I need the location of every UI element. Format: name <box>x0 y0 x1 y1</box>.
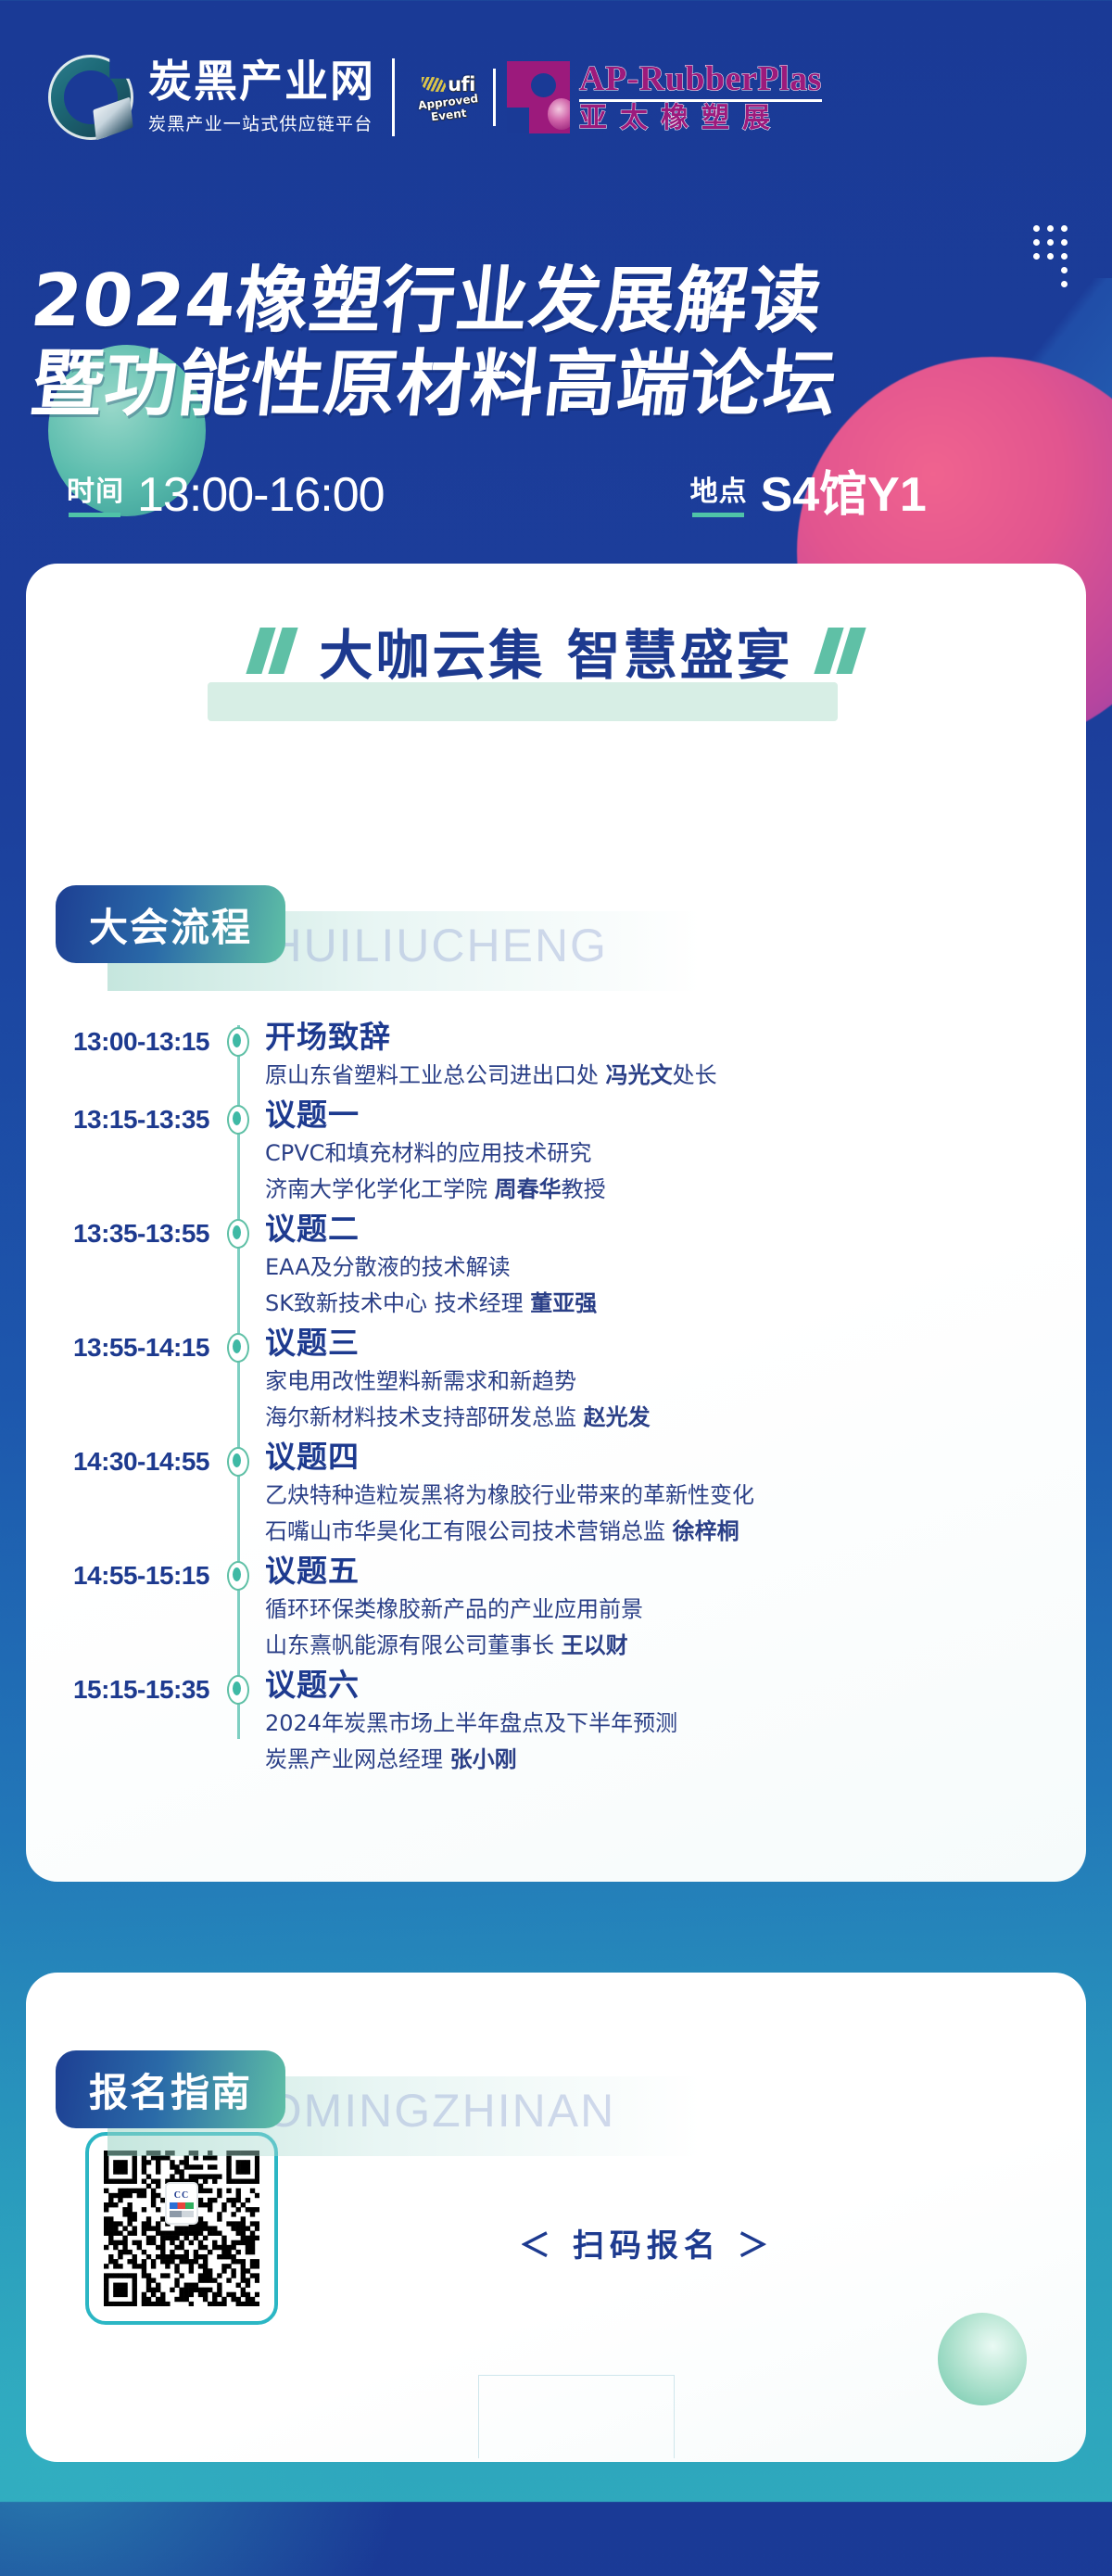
schedule-speaker-org: 原山东省塑料工业总公司进出口处 <box>265 1062 606 1088</box>
partner-name-cn: 亚太橡塑展 <box>579 104 822 133</box>
schedule-title: 议题六 <box>265 1668 677 1704</box>
schedule-time: 13:00-13:15 <box>26 1020 222 1098</box>
schedule-row: 14:30-14:55议题四乙炔特种造粒炭黑将为橡胶行业带来的革新性变化石嘴山市… <box>26 1440 1086 1554</box>
qr-code-icon[interactable]: CC <box>104 2151 259 2306</box>
schedule-topic: CPVC和填充材料的应用技术研究 <box>265 1136 606 1170</box>
schedule-speaker-name: 王以财 <box>562 1632 628 1658</box>
signup-qr-frame[interactable]: CC <box>85 2132 278 2325</box>
schedule-speaker: SK致新技术中心 技术经理 董亚强 <box>265 1287 597 1320</box>
timeline-dot-icon <box>222 1668 252 1782</box>
brand-tagline: 炭黑产业一站式供应链平台 <box>148 110 375 135</box>
schedule-title: 议题三 <box>265 1326 651 1362</box>
page-title: 2024橡塑行业发展解读 暨功能性原材料高端论坛 <box>32 264 1088 422</box>
logo-bar: 炭黑产业网 炭黑产业一站式供应链平台 ufi Approved Event AP… <box>0 46 1112 148</box>
schedule-body: 议题二EAA及分散液的技术解读SK致新技术中心 技术经理 董亚强 <box>252 1212 597 1326</box>
schedule-speaker-name: 董亚强 <box>530 1290 597 1316</box>
event-time-value: 13:00-16:00 <box>137 471 385 519</box>
schedule-row: 13:15-13:35议题一CPVC和填充材料的应用技术研究济南大学化学化工学院… <box>26 1098 1086 1212</box>
schedule-speaker-role: 处长 <box>673 1062 717 1088</box>
schedule-row: 14:55-15:15议题五循环环保类橡胶新产品的产业应用前景山东熹帆能源有限公… <box>26 1554 1086 1668</box>
schedule-time: 14:55-15:15 <box>26 1554 222 1668</box>
ufi-swoosh-icon <box>422 77 446 92</box>
program-section-label: 大会流程 <box>89 896 252 953</box>
timeline-dot-icon <box>222 1098 252 1212</box>
schedule-topic: 2024年炭黑市场上半年盘点及下半年预测 <box>265 1707 677 1740</box>
partner-divider <box>493 69 496 126</box>
schedule-time: 13:15-13:35 <box>26 1098 222 1212</box>
schedule-speaker-org: 济南大学化学化工学院 <box>265 1176 495 1202</box>
ufi-approved-event-badge-icon: ufi Approved Event <box>415 61 482 133</box>
schedule-row: 15:15-15:35议题六2024年炭黑市场上半年盘点及下半年预测炭黑产业网总… <box>26 1668 1086 1782</box>
schedule-time: 15:15-15:35 <box>26 1668 222 1782</box>
schedule-speaker: 炭黑产业网总经理 张小刚 <box>265 1743 677 1776</box>
schedule-body: 议题四乙炔特种造粒炭黑将为橡胶行业带来的革新性变化石嘴山市华昊化工有限公司技术营… <box>252 1440 754 1554</box>
schedule-time: 13:35-13:55 <box>26 1212 222 1326</box>
schedule-topic: 家电用改性塑料新需求和新趋势 <box>265 1364 651 1398</box>
title-line-2: 暨功能性原材料高端论坛 <box>28 348 1092 422</box>
schedule-speaker-org: 石嘴山市华昊化工有限公司技术营销总监 <box>265 1518 673 1544</box>
schedule-body: 议题六2024年炭黑市场上半年盘点及下半年预测炭黑产业网总经理 张小刚 <box>252 1668 677 1782</box>
schedule-speaker-org: 炭黑产业网总经理 <box>265 1746 450 1772</box>
partner-logo-text: AP-RubberPlas 亚太橡塑展 <box>579 61 822 133</box>
timeline-dot-icon <box>222 1554 252 1668</box>
schedule-speaker-name: 徐梓桐 <box>673 1518 739 1544</box>
schedule-speaker-name: 冯光文 <box>606 1062 673 1088</box>
brand-name: 炭黑产业网 <box>148 59 375 105</box>
schedule-row: 13:55-14:15议题三家电用改性塑料新需求和新趋势海尔新材料技术支持部研发… <box>26 1326 1086 1440</box>
schedule-speaker: 济南大学化学化工学院 周春华教授 <box>265 1173 606 1206</box>
event-place: 地点 S4馆Y1 <box>690 468 927 519</box>
timeline-dot-icon <box>222 1440 252 1554</box>
schedule-speaker: 山东熹帆能源有限公司董事长 王以财 <box>265 1629 643 1662</box>
qr-center-logo-icon: CC <box>165 2182 198 2225</box>
schedule-body: 议题三家电用改性塑料新需求和新趋势海尔新材料技术支持部研发总监 赵光发 <box>252 1326 651 1440</box>
schedule-speaker: 石嘴山市华昊化工有限公司技术营销总监 徐梓桐 <box>265 1515 754 1548</box>
scan-to-register-label: ＜ 扫码报名 ＞ <box>519 2220 775 2265</box>
schedule-row: 13:35-13:55议题二EAA及分散液的技术解读SK致新技术中心 技术经理 … <box>26 1212 1086 1326</box>
schedule-speaker-name: 张小刚 <box>450 1746 517 1772</box>
signup-section-label: 报名指南 <box>89 2062 252 2118</box>
schedule-title: 议题四 <box>265 1440 754 1476</box>
program-timeline: 13:00-13:15开场致辞原山东省塑料工业总公司进出口处 冯光文处长13:1… <box>26 1020 1086 1782</box>
quote-right-icon <box>821 628 859 674</box>
event-time-label: 时间 <box>67 468 124 519</box>
schedule-row: 13:00-13:15开场致辞原山东省塑料工业总公司进出口处 冯光文处长 <box>26 1020 1086 1098</box>
signup-guide-lines <box>478 2375 675 2458</box>
schedule-title: 开场致辞 <box>265 1020 717 1056</box>
schedule-title: 议题二 <box>265 1212 597 1248</box>
schedule-speaker: 原山东省塑料工业总公司进出口处 冯光文处长 <box>265 1059 717 1092</box>
schedule-body: 议题一CPVC和填充材料的应用技术研究济南大学化学化工学院 周春华教授 <box>252 1098 606 1212</box>
slogan-text: 大咖云集 智慧盛宴 <box>319 612 792 690</box>
schedule-topic: 乙炔特种造粒炭黑将为橡胶行业带来的革新性变化 <box>265 1478 754 1512</box>
schedule-title: 议题一 <box>265 1098 606 1134</box>
timeline-dot-icon <box>222 1020 252 1098</box>
schedule-speaker-org: 山东熹帆能源有限公司董事长 <box>265 1632 562 1658</box>
event-place-value: S4馆Y1 <box>761 471 927 519</box>
program-section-tag: 大会流程 <box>56 885 285 963</box>
schedule-body: 开场致辞原山东省塑料工业总公司进出口处 冯光文处长 <box>252 1020 717 1098</box>
schedule-speaker-name: 赵光发 <box>584 1404 651 1430</box>
title-line-1: 2024橡塑行业发展解读 <box>28 264 1092 338</box>
schedule-time: 13:55-14:15 <box>26 1326 222 1440</box>
event-time: 时间 13:00-16:00 <box>67 468 385 519</box>
timeline-dot-icon <box>222 1212 252 1326</box>
schedule-topic: EAA及分散液的技术解读 <box>265 1250 597 1284</box>
schedule-speaker-org: SK致新技术中心 技术经理 <box>265 1290 530 1316</box>
ap-rubberplas-r-logo-icon <box>507 61 570 133</box>
signup-section-tag: 报名指南 <box>56 2050 285 2128</box>
partner-name-en: AP-RubberPlas <box>579 61 822 96</box>
schedule-topic: 循环环保类橡胶新产品的产业应用前景 <box>265 1593 643 1626</box>
slogan-row: 大咖云集 智慧盛宴 <box>26 612 1086 690</box>
carbon-black-c-logo-icon <box>48 55 133 140</box>
event-place-label: 地点 <box>690 468 748 519</box>
logo-divider <box>392 58 395 136</box>
event-meta: 时间 13:00-16:00 地点 S4馆Y1 <box>0 468 1112 519</box>
schedule-speaker: 海尔新材料技术支持部研发总监 赵光发 <box>265 1401 651 1434</box>
schedule-time: 14:30-14:55 <box>26 1440 222 1554</box>
mint-ball-decoration <box>938 2313 1027 2405</box>
brand-logo: 炭黑产业网 炭黑产业一站式供应链平台 <box>48 55 375 140</box>
quote-left-icon <box>253 628 291 674</box>
schedule-title: 议题五 <box>265 1554 643 1590</box>
schedule-speaker-org: 海尔新材料技术支持部研发总监 <box>265 1404 584 1430</box>
schedule-speaker-role: 教授 <box>562 1176 606 1202</box>
schedule-speaker-name: 周春华 <box>495 1176 562 1202</box>
timeline-dot-icon <box>222 1326 252 1440</box>
schedule-body: 议题五循环环保类橡胶新产品的产业应用前景山东熹帆能源有限公司董事长 王以财 <box>252 1554 643 1668</box>
